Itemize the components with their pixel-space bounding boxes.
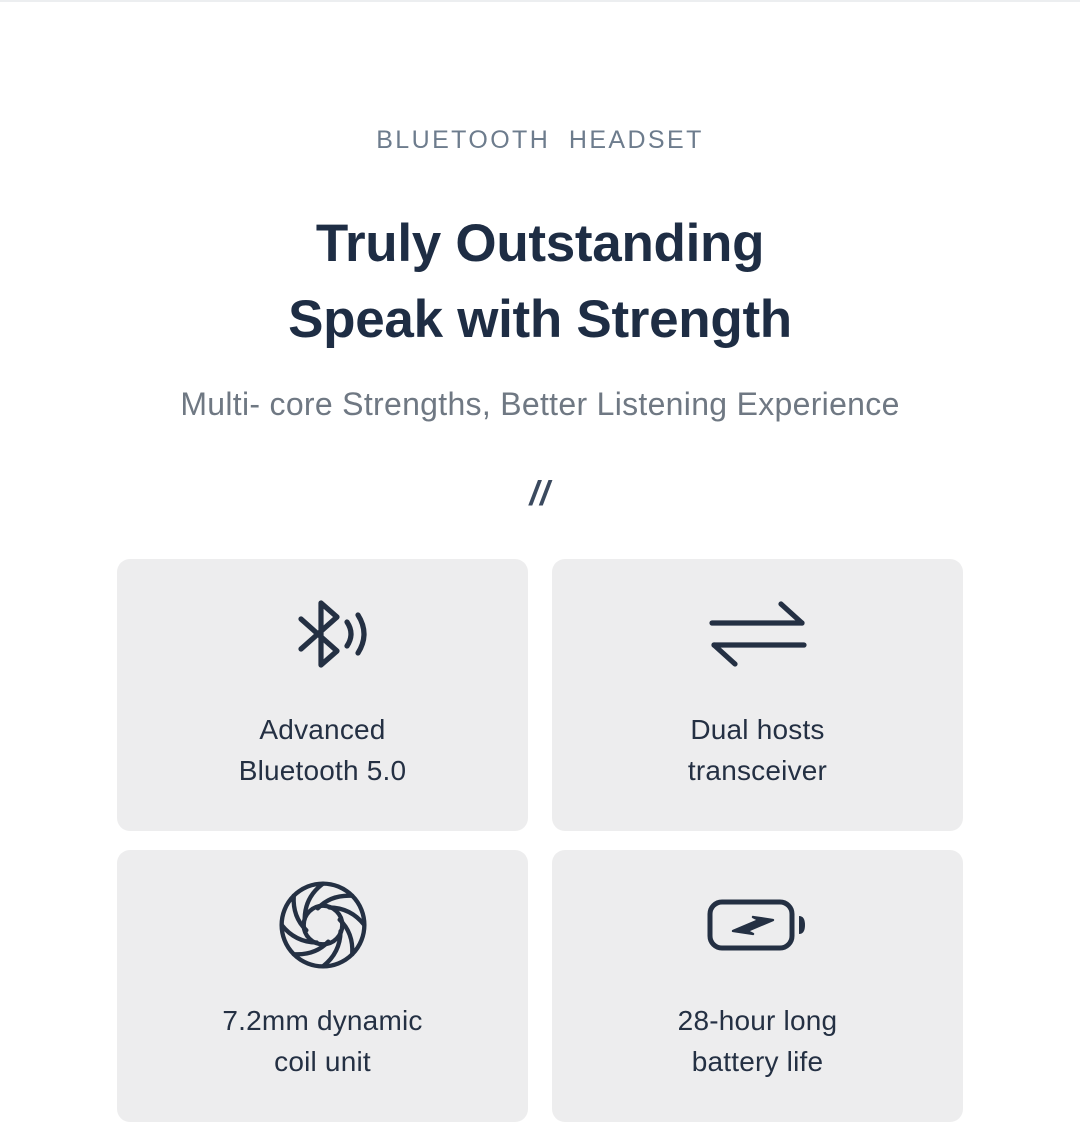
feature-caption-line-1: Advanced bbox=[239, 709, 407, 750]
two-way-arrows-icon bbox=[706, 559, 810, 709]
feature-caption-line-1: 28-hour long bbox=[678, 1000, 838, 1041]
feature-caption: Dual hosts transceiver bbox=[688, 709, 827, 791]
feature-caption: Advanced Bluetooth 5.0 bbox=[239, 709, 407, 791]
feature-caption: 28-hour long battery life bbox=[678, 1000, 838, 1082]
feature-caption-line-2: battery life bbox=[678, 1041, 838, 1082]
feature-card-battery-life: 28-hour long battery life bbox=[552, 850, 963, 1122]
headline-line-2: Speak with Strength bbox=[0, 282, 1080, 358]
feature-card-bluetooth: Advanced Bluetooth 5.0 bbox=[117, 559, 528, 831]
top-divider-rule bbox=[0, 0, 1080, 2]
feature-card-driver-unit: 7.2mm dynamic coil unit bbox=[117, 850, 528, 1122]
slash-divider: // bbox=[0, 475, 1080, 514]
feature-card-dual-hosts: Dual hosts transceiver bbox=[552, 559, 963, 831]
eyebrow-label: BLUETOOTH HEADSET bbox=[0, 126, 1080, 155]
feature-caption-line-1: 7.2mm dynamic bbox=[222, 1000, 422, 1041]
bluetooth-signal-icon bbox=[275, 559, 371, 709]
page-subtitle: Multi- core Strengths, Better Listening … bbox=[0, 386, 1080, 423]
feature-caption: 7.2mm dynamic coil unit bbox=[222, 1000, 422, 1082]
feature-caption-line-2: coil unit bbox=[222, 1041, 422, 1082]
headline-line-1: Truly Outstanding bbox=[0, 206, 1080, 282]
feature-caption-line-1: Dual hosts bbox=[688, 709, 827, 750]
battery-charging-icon bbox=[706, 850, 810, 1000]
feature-card-grid: Advanced Bluetooth 5.0 Dual hosts transc… bbox=[117, 559, 963, 1122]
page-title: Truly Outstanding Speak with Strength bbox=[0, 206, 1080, 358]
feature-caption-line-2: Bluetooth 5.0 bbox=[239, 750, 407, 791]
feature-caption-line-2: transceiver bbox=[688, 750, 827, 791]
aperture-driver-icon bbox=[276, 850, 370, 1000]
product-feature-page: BLUETOOTH HEADSET Truly Outstanding Spea… bbox=[0, 0, 1080, 1130]
